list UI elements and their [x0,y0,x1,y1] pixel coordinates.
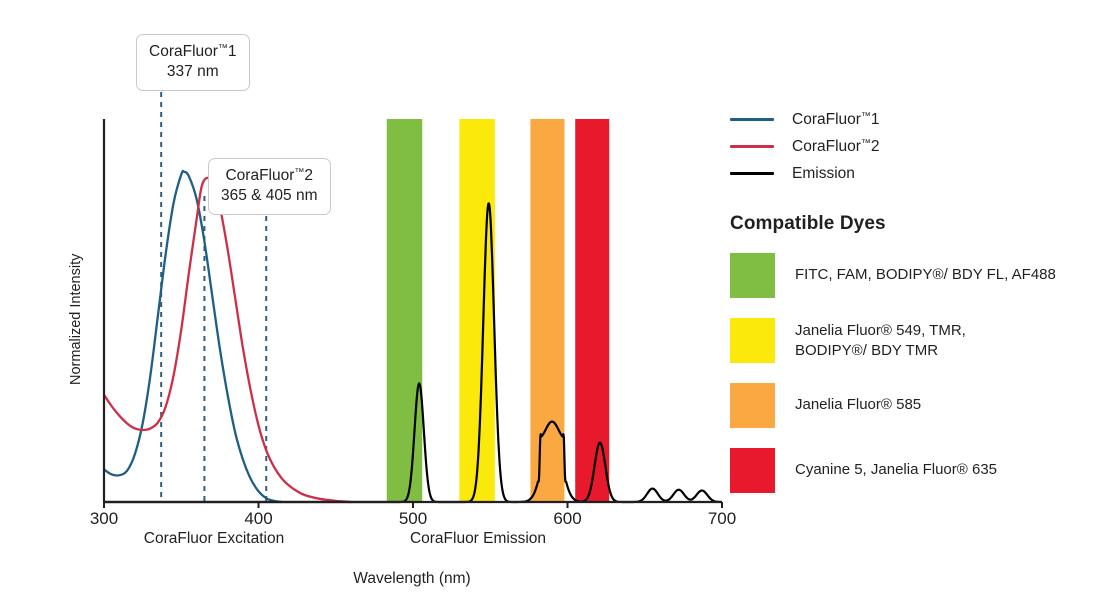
dye-item-label: FITC, FAM, BODIPY®/ BDY FL, AF488 [795,253,1056,285]
dye-label-line1: Janelia Fluor® 585 [795,395,921,415]
legend-item-label: CoraFluor™1 [792,111,880,129]
dye-item-3[interactable]: Janelia Fluor® 585 [730,383,1102,428]
dye-item-2[interactable]: Janelia Fluor® 549, TMR,BODIPY®/ BDY TMR [730,318,1102,363]
dye-label-line2: BODIPY®/ BDY TMR [795,341,966,361]
trademark-symbol: ™ [861,138,871,149]
dye-item-label: Janelia Fluor® 549, TMR,BODIPY®/ BDY TMR [795,318,966,362]
excitation-section-label: CoraFluor Excitation [144,530,284,547]
dye-label-line1: Janelia Fluor® 549, TMR, [795,321,966,341]
legend-panel: CoraFluor™1CoraFluor™2Emission Compatibl… [730,106,1102,513]
legend-line-swatch [730,172,774,175]
fluorescence-spectra-figure: 300400500600700 Normalized Intensity Cor… [0,0,1110,612]
x-axis-title: Wavelength (nm) [353,570,470,587]
dye-item-label: Cyanine 5, Janelia Fluor® 635 [795,448,997,480]
y-axis-title: Normalized Intensity [68,253,84,385]
orange-band [530,119,564,502]
legend-line-swatch [730,118,774,121]
legend-item-label: CoraFluor™2 [792,138,880,156]
dye-color-swatch [730,448,775,493]
legend-item-label: Emission [792,165,855,183]
compatible-dyes-list: FITC, FAM, BODIPY®/ BDY FL, AF488Janelia… [730,253,1102,493]
callout-1-line2: 337 nm [149,62,237,82]
dye-color-swatch [730,318,775,363]
legend-item-2[interactable]: CoraFluor™2 [730,133,1102,160]
curve-corafluor1 [104,171,282,502]
spectra-plot: 300400500600700 Normalized Intensity Cor… [0,0,760,612]
callout-corafluor2: CoraFluor™2 365 & 405 nm [208,158,331,215]
yellow-band [459,119,495,502]
callout-2-line2: 365 & 405 nm [221,186,318,206]
callout-1-line1: CoraFluor™1 [149,42,237,62]
callout-corafluor1: CoraFluor™1 337 nm [136,34,250,91]
dye-item-label: Janelia Fluor® 585 [795,383,921,415]
compatible-dyes-heading: Compatible Dyes [730,213,1102,235]
series-legend: CoraFluor™1CoraFluor™2Emission [730,106,1102,187]
trademark-symbol: ™ [861,111,871,122]
dye-label-line1: Cyanine 5, Janelia Fluor® 635 [795,460,997,480]
trademark-symbol: ™ [218,43,228,54]
dye-item-1[interactable]: FITC, FAM, BODIPY®/ BDY FL, AF488 [730,253,1102,298]
callout-2-line1: CoraFluor™2 [221,166,318,186]
dye-item-4[interactable]: Cyanine 5, Janelia Fluor® 635 [730,448,1102,493]
legend-item-3[interactable]: Emission [730,160,1102,187]
tick-label-500: 500 [399,509,427,528]
x-axis-ticks: 300400500600700 [90,502,736,528]
curve-corafluor2 [104,178,351,502]
tick-label-600: 600 [553,509,581,528]
legend-item-1[interactable]: CoraFluor™1 [730,106,1102,133]
legend-line-swatch [730,145,774,148]
tick-label-300: 300 [90,509,118,528]
green-band [387,119,423,502]
red-band [575,119,609,502]
tick-label-400: 400 [244,509,272,528]
dye-color-swatch [730,383,775,428]
trademark-symbol: ™ [294,167,304,178]
dye-label-line1: FITC, FAM, BODIPY®/ BDY FL, AF488 [795,265,1056,285]
excitation-guide-lines [161,92,266,502]
dye-color-swatch [730,253,775,298]
emission-section-label: CoraFluor Emission [410,530,546,547]
